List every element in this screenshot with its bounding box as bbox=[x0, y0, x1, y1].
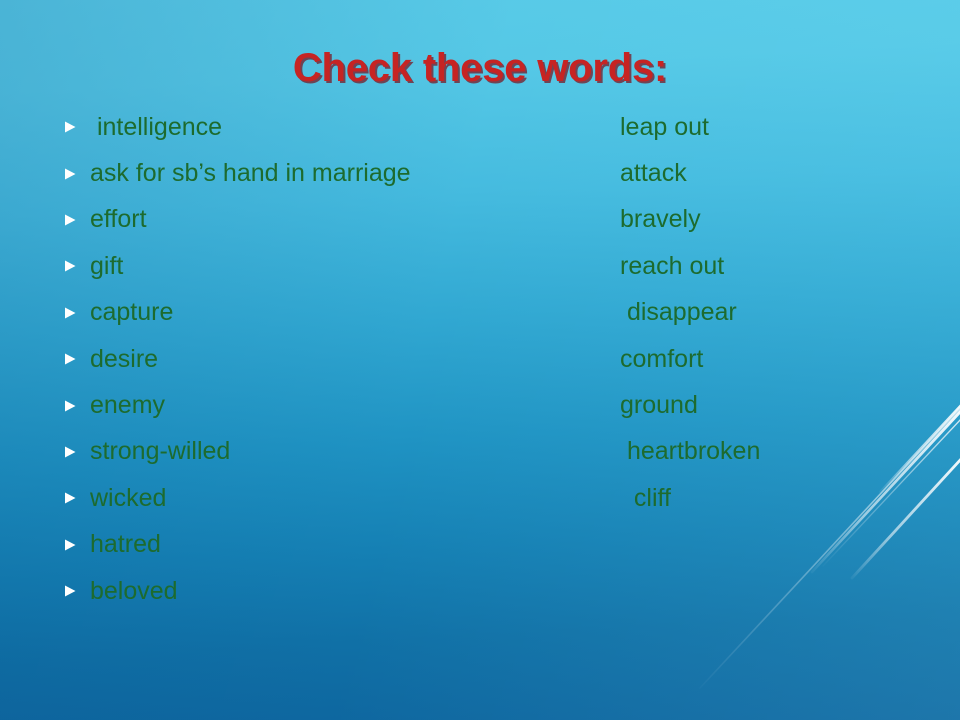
list-item[interactable]: bravely bbox=[620, 197, 950, 243]
triangle-right-icon bbox=[62, 490, 78, 506]
triangle-right-icon bbox=[62, 537, 78, 553]
triangle-right-icon bbox=[62, 258, 78, 274]
list-item[interactable]: ask for sb’s hand in marriage bbox=[62, 150, 622, 196]
list-item[interactable]: gift bbox=[62, 243, 622, 289]
triangle-right-icon bbox=[62, 119, 78, 135]
list-item-label: leap out bbox=[620, 115, 709, 140]
list-item[interactable]: comfort bbox=[620, 336, 950, 382]
list-item[interactable]: enemy bbox=[62, 382, 622, 428]
list-item-label: comfort bbox=[620, 347, 703, 372]
triangle-right-icon bbox=[62, 212, 78, 228]
word-list-right: leap out attack bravely reach out disapp… bbox=[620, 104, 950, 522]
list-item-label: capture bbox=[90, 300, 173, 325]
triangle-right-icon bbox=[62, 583, 78, 599]
list-item[interactable]: ground bbox=[620, 382, 950, 428]
list-item[interactable]: disappear bbox=[620, 290, 950, 336]
page-title: Check these words: bbox=[0, 46, 960, 91]
list-item[interactable]: strong-willed bbox=[62, 429, 622, 475]
list-item[interactable]: beloved bbox=[62, 568, 622, 614]
list-item-label: hatred bbox=[90, 532, 161, 557]
triangle-right-icon bbox=[62, 305, 78, 321]
list-item[interactable]: desire bbox=[62, 336, 622, 382]
list-item-label: wicked bbox=[90, 486, 166, 511]
list-item-label: strong-willed bbox=[90, 439, 230, 464]
list-item-label: gift bbox=[90, 254, 123, 279]
list-item-label: ask for sb’s hand in marriage bbox=[90, 161, 411, 186]
triangle-right-icon bbox=[62, 166, 78, 182]
list-item-label: heartbroken bbox=[620, 439, 760, 464]
list-item-label: intelligence bbox=[90, 115, 222, 140]
list-item[interactable]: intelligence bbox=[62, 104, 622, 150]
list-item[interactable]: reach out bbox=[620, 243, 950, 289]
list-item-label: ground bbox=[620, 393, 698, 418]
list-item[interactable]: wicked bbox=[62, 475, 622, 521]
list-item[interactable]: hatred bbox=[62, 522, 622, 568]
word-list-left: intelligence ask for sb’s hand in marria… bbox=[62, 104, 622, 614]
list-item-label: beloved bbox=[90, 579, 178, 604]
list-item[interactable]: attack bbox=[620, 150, 950, 196]
triangle-right-icon bbox=[62, 444, 78, 460]
list-item-label: reach out bbox=[620, 254, 724, 279]
list-item-label: attack bbox=[620, 161, 687, 186]
triangle-right-icon bbox=[62, 398, 78, 414]
list-item-label: bravely bbox=[620, 207, 701, 232]
list-item[interactable]: effort bbox=[62, 197, 622, 243]
list-item-label: disappear bbox=[620, 300, 737, 325]
list-item[interactable]: leap out bbox=[620, 104, 950, 150]
list-item-label: desire bbox=[90, 347, 158, 372]
list-item[interactable]: heartbroken bbox=[620, 429, 950, 475]
triangle-right-icon bbox=[62, 351, 78, 367]
slide-canvas: Check these words: intelligence ask for … bbox=[0, 0, 960, 720]
list-item[interactable]: capture bbox=[62, 290, 622, 336]
list-item-label: enemy bbox=[90, 393, 165, 418]
list-item-label: effort bbox=[90, 207, 147, 232]
list-item-label: cliff bbox=[620, 486, 671, 511]
list-item[interactable]: cliff bbox=[620, 475, 950, 521]
